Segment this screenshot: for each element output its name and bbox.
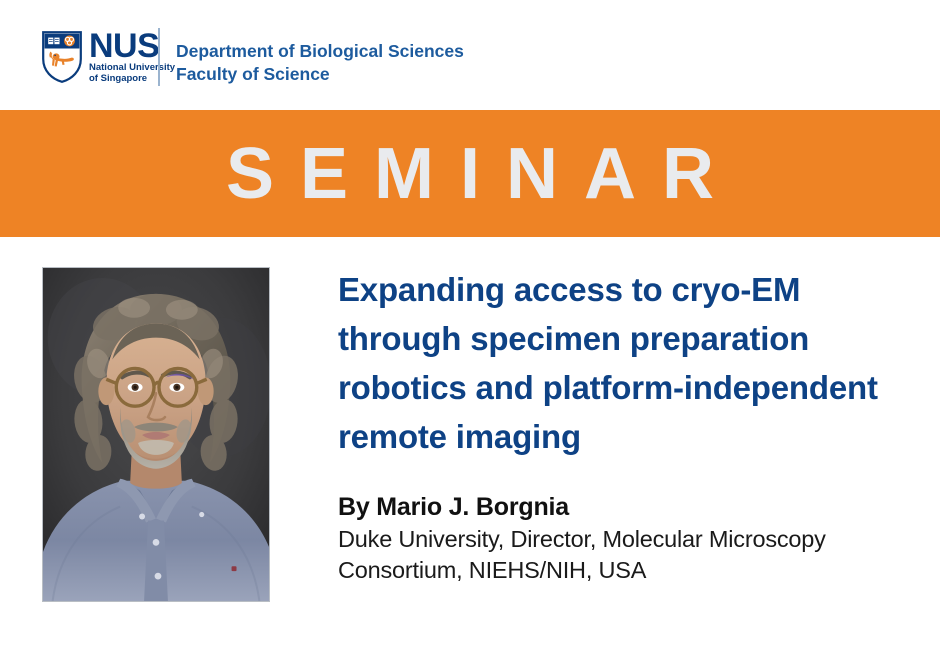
nus-subtitle-line-1: National University	[89, 62, 175, 73]
seminar-banner: SEMINAR	[0, 110, 940, 237]
speaker-block: By Mario J. Borgnia Duke University, Dir…	[338, 491, 914, 586]
department-block: Department of Biological Sciences Facult…	[176, 40, 464, 86]
seminar-banner-label: SEMINAR	[0, 110, 940, 237]
nus-subtitle-line-2: of Singapore	[89, 73, 175, 84]
nus-shield-crest-icon	[42, 31, 82, 83]
header-divider	[158, 28, 160, 86]
nus-logo-lockup: NUS National University of Singapore	[42, 28, 175, 86]
poster-body: Expanding access to cryo-EM through spec…	[0, 237, 940, 650]
talk-text-column: Expanding access to cryo-EM through spec…	[338, 265, 914, 586]
speaker-photo-frame	[42, 267, 270, 602]
speaker-name: By Mario J. Borgnia	[338, 491, 914, 524]
department-line-2: Faculty of Science	[176, 63, 464, 86]
nus-wordmark-block: NUS National University of Singapore	[89, 31, 175, 84]
affiliation-line-1: Duke University, Director, Molecular Mic…	[338, 524, 914, 555]
nus-wordmark: NUS	[89, 31, 175, 62]
talk-title: Expanding access to cryo-EM through spec…	[338, 265, 914, 461]
speaker-portrait-photo	[43, 268, 269, 601]
affiliation-line-2: Consortium, NIEHS/NIH, USA	[338, 555, 914, 586]
department-line-1: Department of Biological Sciences	[176, 40, 464, 63]
poster-header: NUS National University of Singapore Dep…	[0, 0, 940, 110]
